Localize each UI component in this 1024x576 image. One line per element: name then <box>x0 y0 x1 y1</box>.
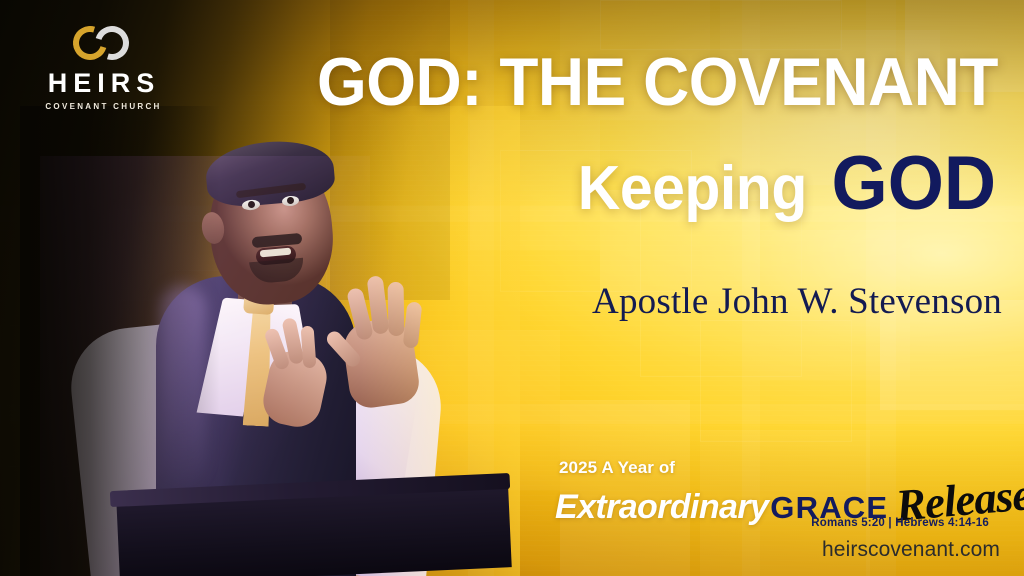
theme-word-extraordinary: Extraordinary <box>555 488 768 527</box>
website-url[interactable]: heirscovenant.com <box>822 538 1000 562</box>
sermon-title-line-2: KeepingGOD <box>50 146 996 222</box>
theme-year-label: 2025 A Year of <box>559 458 675 478</box>
sermon-title-keeping: Keeping <box>578 154 807 223</box>
theme-scripture-reference: Romans 5:20 | Hebrews 4:14-16 <box>811 517 989 529</box>
annual-theme-lockup: 2025 A Year of Extraordinary GRACE Relea… <box>555 458 1005 528</box>
speaker-name: Apostle John W. Stevenson <box>592 280 1002 323</box>
podium <box>110 456 510 576</box>
sermon-title-god: GOD <box>832 141 996 226</box>
sermon-title-slide: HEIRS COVENANT CHURCH GOD: THE COVENANT … <box>0 0 1024 576</box>
sermon-title-line-1: GOD: THE COVENANT <box>60 48 998 116</box>
